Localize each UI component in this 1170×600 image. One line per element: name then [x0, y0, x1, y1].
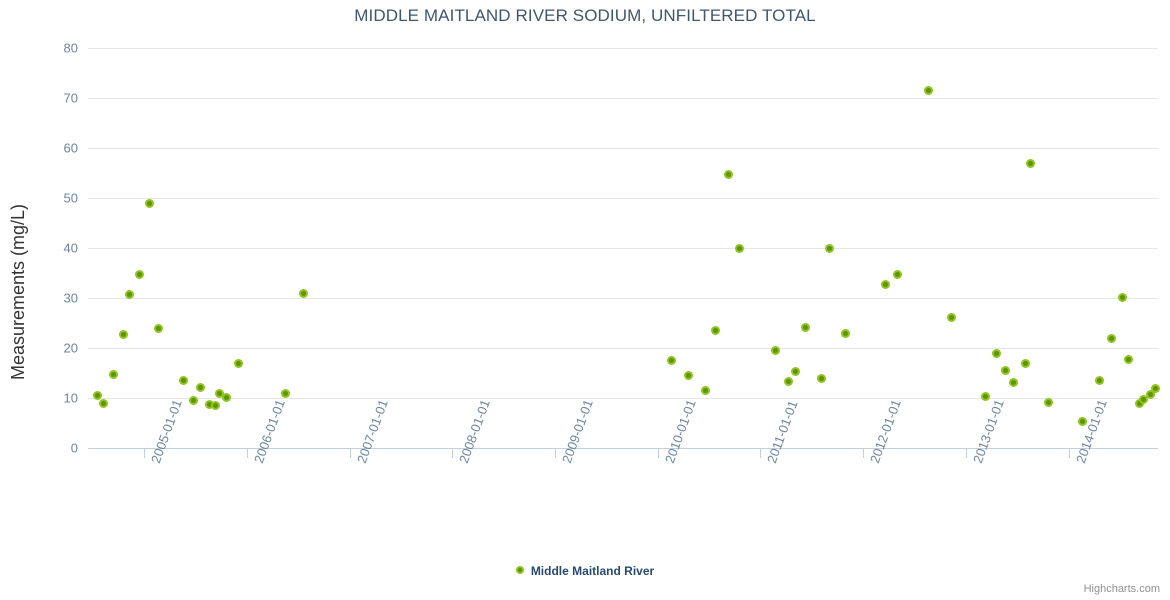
y-axis-tick-label: 80	[8, 41, 78, 56]
chart-container: MIDDLE MAITLAND RIVER SODIUM, UNFILTERED…	[0, 0, 1170, 600]
data-point[interactable]	[893, 270, 902, 279]
data-point[interactable]	[1021, 359, 1030, 368]
gridline	[88, 198, 1158, 199]
gridline	[88, 298, 1158, 299]
data-point[interactable]	[981, 392, 990, 401]
x-axis-tick	[760, 449, 761, 458]
data-point[interactable]	[119, 330, 128, 339]
x-axis-tick	[863, 449, 864, 458]
y-axis-tick-labels: 01020304050607080	[0, 48, 78, 448]
data-point[interactable]	[154, 324, 163, 333]
data-point[interactable]	[281, 389, 290, 398]
data-point[interactable]	[145, 199, 154, 208]
data-point[interactable]	[299, 289, 308, 298]
x-axis-tick	[144, 449, 145, 458]
data-point[interactable]	[724, 170, 733, 179]
legend-item-middle-maitland-river[interactable]: Middle Maitland River	[516, 563, 654, 578]
data-point[interactable]	[825, 244, 834, 253]
data-point[interactable]	[234, 359, 243, 368]
y-axis-tick-label: 50	[8, 191, 78, 206]
data-point[interactable]	[1118, 293, 1127, 302]
legend-item-label: Middle Maitland River	[531, 564, 654, 578]
data-point[interactable]	[701, 386, 710, 395]
data-point[interactable]	[992, 349, 1001, 358]
gridline	[88, 248, 1158, 249]
data-point[interactable]	[771, 346, 780, 355]
data-point[interactable]	[791, 367, 800, 376]
data-point[interactable]	[1044, 398, 1053, 407]
data-point[interactable]	[711, 326, 720, 335]
data-point[interactable]	[135, 270, 144, 279]
gridline	[88, 148, 1158, 149]
data-point[interactable]	[125, 290, 134, 299]
data-point[interactable]	[99, 399, 108, 408]
data-point[interactable]	[924, 86, 933, 95]
gridline	[88, 98, 1158, 99]
y-axis-tick-label: 10	[8, 391, 78, 406]
data-point[interactable]	[179, 376, 188, 385]
x-axis-tick	[966, 449, 967, 458]
x-axis-tick	[555, 449, 556, 458]
chart-title: MIDDLE MAITLAND RIVER SODIUM, UNFILTERED…	[0, 6, 1170, 26]
data-point[interactable]	[1001, 366, 1010, 375]
data-point[interactable]	[1151, 384, 1160, 393]
data-point[interactable]	[947, 313, 956, 322]
x-axis-tick	[247, 449, 248, 458]
data-point[interactable]	[841, 329, 850, 338]
x-axis-tick	[658, 449, 659, 458]
x-axis-tick	[350, 449, 351, 458]
data-point[interactable]	[1026, 159, 1035, 168]
data-point[interactable]	[784, 377, 793, 386]
chart-legend: Middle Maitland River	[0, 563, 1170, 578]
data-point[interactable]	[1095, 376, 1104, 385]
data-point[interactable]	[222, 393, 231, 402]
x-axis-tick	[452, 449, 453, 458]
data-point[interactable]	[211, 401, 220, 410]
data-point[interactable]	[1107, 334, 1116, 343]
y-axis-tick-label: 70	[8, 91, 78, 106]
y-axis-tick-label: 40	[8, 241, 78, 256]
x-axis-tick	[1069, 449, 1070, 458]
y-axis-tick-label: 0	[8, 441, 78, 456]
data-point[interactable]	[667, 356, 676, 365]
data-point[interactable]	[801, 323, 810, 332]
legend-marker-icon	[516, 566, 524, 574]
plot-area	[88, 48, 1158, 448]
x-axis-line	[88, 448, 1158, 449]
y-axis-tick-label: 20	[8, 341, 78, 356]
data-point[interactable]	[1009, 378, 1018, 387]
data-point[interactable]	[881, 280, 890, 289]
y-axis-tick-label: 30	[8, 291, 78, 306]
data-point[interactable]	[196, 383, 205, 392]
data-point[interactable]	[1124, 355, 1133, 364]
y-axis-tick-label: 60	[8, 141, 78, 156]
data-point[interactable]	[735, 244, 744, 253]
data-point[interactable]	[189, 396, 198, 405]
data-point[interactable]	[109, 370, 118, 379]
credits-watermark[interactable]: Highcharts.com	[1084, 583, 1160, 595]
data-point[interactable]	[684, 371, 693, 380]
gridline	[88, 48, 1158, 49]
data-point[interactable]	[817, 374, 826, 383]
